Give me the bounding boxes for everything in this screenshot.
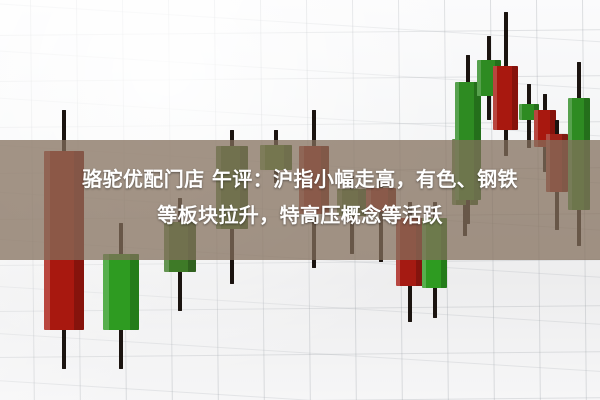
caption-line-2: 等板块拉升，特高压概念等活跃 [0, 199, 600, 231]
caption-line-1: 骆驼优配门店 午评：沪指小幅走高，有色、钢铁 [0, 163, 600, 195]
candlestick-banner: 骆驼优配门店 午评：沪指小幅走高，有色、钢铁 等板块拉升，特高压概念等活跃 [0, 0, 600, 400]
candle-body [103, 254, 139, 330]
candle-body [493, 66, 518, 130]
